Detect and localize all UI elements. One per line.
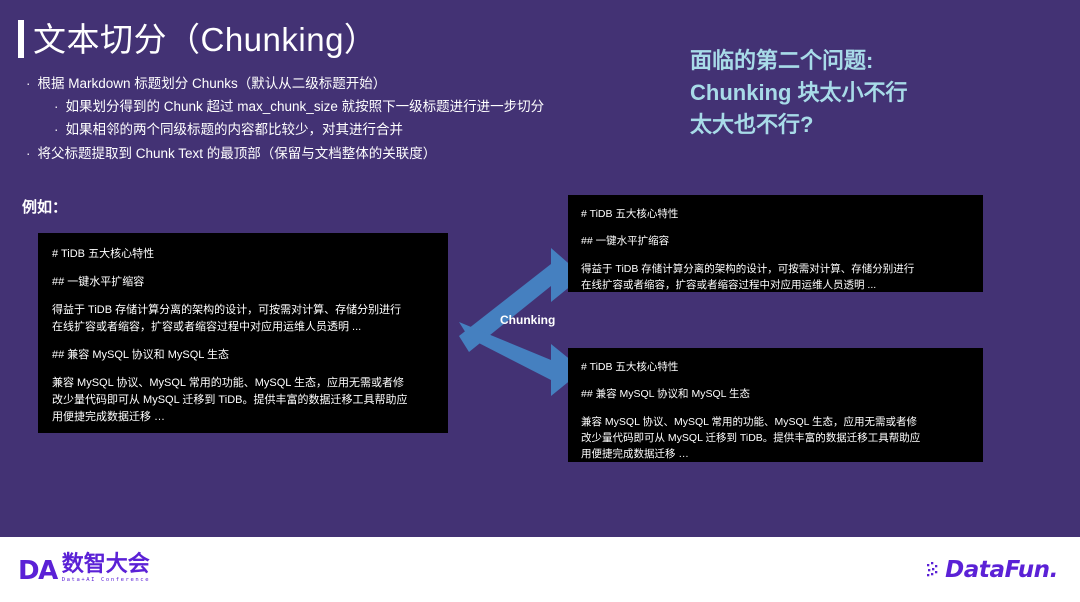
code-line: 在线扩容或者缩容，扩容或者缩容过程中对应用运维人员透明 ... bbox=[52, 319, 434, 336]
bullet-dot-icon: · bbox=[54, 95, 59, 118]
code-line: # TiDB 五大核心特性 bbox=[581, 359, 970, 375]
code-line: 改少量代码即可从 MySQL 迁移到 TiDB。提供丰富的数据迁移工具帮助应 bbox=[52, 392, 434, 409]
code-blank-line bbox=[52, 291, 434, 302]
arrow-label: Chunking bbox=[500, 313, 555, 327]
code-blank-line bbox=[581, 403, 970, 414]
da-monogram-icon: DA bbox=[18, 558, 57, 584]
code-line: ## 一键水平扩缩容 bbox=[581, 233, 970, 249]
code-line: ## 兼容 MySQL 协议和 MySQL 生态 bbox=[581, 386, 970, 402]
output-chunk-block-1: # TiDB 五大核心特性 ## 一键水平扩缩容 得益于 TiDB 存储计算分离… bbox=[568, 195, 983, 292]
bullet-text: 根据 Markdown 标题划分 Chunks（默认从二级标题开始） bbox=[38, 72, 707, 95]
code-line: 得益于 TiDB 存储计算分离的架构的设计，可按需对计算、存储分别进行 bbox=[581, 261, 970, 277]
source-document-block: # TiDB 五大核心特性 ## 一键水平扩缩容 得益于 TiDB 存储计算分离… bbox=[38, 233, 448, 433]
conference-logo-text: 数智大会 Data+AI Conference bbox=[62, 553, 150, 584]
output-chunk-block-2: # TiDB 五大核心特性 ## 兼容 MySQL 协议和 MySQL 生态 兼… bbox=[568, 348, 983, 462]
conference-logo-tagline: Data+AI Conference bbox=[62, 578, 150, 584]
arrow-down-right-icon bbox=[459, 322, 583, 396]
code-line: ## 一键水平扩缩容 bbox=[52, 274, 434, 291]
datafun-logo-text: DataFun. bbox=[945, 559, 1058, 582]
title-text: 文本切分（Chunking） bbox=[33, 23, 377, 56]
conference-logo-name: 数智大会 bbox=[62, 553, 150, 575]
bullet-dot-icon: · bbox=[26, 142, 31, 165]
title-accent-bar bbox=[18, 20, 24, 58]
code-line: 用便捷完成数据迁移 … bbox=[52, 409, 434, 426]
right-heading-line-1: 面临的第二个问题: bbox=[690, 45, 1030, 77]
code-line: 改少量代码即可从 MySQL 迁移到 TiDB。提供丰富的数据迁移工具帮助应 bbox=[581, 430, 970, 446]
datafun-logo: DataFun. bbox=[927, 559, 1058, 582]
right-heading-line-3: 太大也不行? bbox=[690, 109, 1030, 141]
code-line: 用便捷完成数据迁移 … bbox=[581, 446, 970, 462]
code-line: 在线扩容或者缩容，扩容或者缩容过程中对应用运维人员透明 ... bbox=[581, 277, 970, 292]
right-heading-line-2: Chunking 块太小不行 bbox=[690, 77, 1030, 109]
code-blank-line bbox=[52, 263, 434, 274]
list-item: · 如果划分得到的 Chunk 超过 max_chunk_size 就按照下一级… bbox=[54, 95, 706, 118]
code-line: ## 兼容 MySQL 协议和 MySQL 生态 bbox=[52, 347, 434, 364]
code-line: 兼容 MySQL 协议、MySQL 常用的功能、MySQL 生态，应用无需或者修 bbox=[52, 375, 434, 392]
right-heading: 面临的第二个问题: Chunking 块太小不行 太大也不行? bbox=[690, 45, 1030, 141]
conference-logo: DA 数智大会 Data+AI Conference bbox=[18, 553, 150, 584]
bullet-dot-icon: · bbox=[26, 72, 31, 95]
slide-footer: DA 数智大会 Data+AI Conference DataFu bbox=[0, 537, 1080, 602]
example-label: 例如： bbox=[22, 196, 67, 217]
code-blank-line bbox=[581, 375, 970, 386]
code-line: 得益于 TiDB 存储计算分离的架构的设计，可按需对计算、存储分别进行 bbox=[52, 302, 434, 319]
bullet-dot-icon: · bbox=[54, 118, 59, 141]
slide-root: 文本切分（Chunking） · 根据 Markdown 标题划分 Chunks… bbox=[0, 0, 1080, 602]
bullet-text: 如果相邻的两个同级标题的内容都比较少，对其进行合并 bbox=[66, 118, 707, 141]
code-blank-line bbox=[581, 250, 970, 261]
slide-canvas: 文本切分（Chunking） · 根据 Markdown 标题划分 Chunks… bbox=[0, 0, 1080, 537]
code-line: # TiDB 五大核心特性 bbox=[52, 246, 434, 263]
code-blank-line bbox=[52, 336, 434, 347]
code-blank-line bbox=[581, 222, 970, 233]
datafun-dots-icon bbox=[927, 562, 942, 579]
bullet-list: · 根据 Markdown 标题划分 Chunks（默认从二级标题开始） · 如… bbox=[26, 72, 706, 165]
code-blank-line bbox=[52, 364, 434, 375]
list-item: · 如果相邻的两个同级标题的内容都比较少，对其进行合并 bbox=[54, 118, 706, 141]
code-line: # TiDB 五大核心特性 bbox=[581, 206, 970, 222]
bullet-text: 将父标题提取到 Chunk Text 的最顶部（保留与文档整体的关联度） bbox=[38, 142, 707, 165]
list-item: · 将父标题提取到 Chunk Text 的最顶部（保留与文档整体的关联度） bbox=[26, 142, 706, 165]
page-title: 文本切分（Chunking） bbox=[18, 20, 377, 58]
list-item: · 根据 Markdown 标题划分 Chunks（默认从二级标题开始） bbox=[26, 72, 706, 95]
code-line: 兼容 MySQL 协议、MySQL 常用的功能、MySQL 生态，应用无需或者修 bbox=[581, 414, 970, 430]
bullet-text: 如果划分得到的 Chunk 超过 max_chunk_size 就按照下一级标题… bbox=[66, 95, 707, 118]
